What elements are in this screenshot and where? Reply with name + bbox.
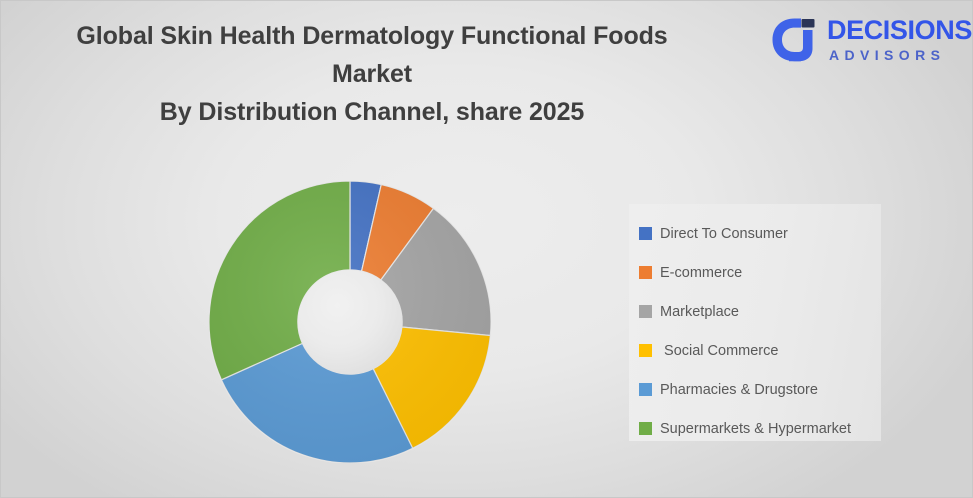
brand-wordmark: DECISIONS ADVISORS xyxy=(827,15,963,65)
title-line-3: By Distribution Channel, share 2025 xyxy=(19,93,725,131)
legend-swatch-marketplace xyxy=(639,305,652,318)
legend-item[interactable]: Supermarkets & Hypermarket xyxy=(635,409,875,448)
donut-chart xyxy=(209,181,491,463)
donut-slices xyxy=(209,181,491,463)
legend-label: Marketplace xyxy=(660,303,739,321)
legend-item[interactable]: Direct To Consumer xyxy=(635,214,875,253)
title-line-1: Global Skin Health Dermatology Functiona… xyxy=(19,17,725,55)
legend-swatch-direct-to-consumer xyxy=(639,227,652,240)
title-line-2: Market xyxy=(19,55,725,93)
legend-label: Direct To Consumer xyxy=(660,225,788,243)
legend-item[interactable]: Pharmacies & Drugstore xyxy=(635,370,875,409)
legend-item[interactable]: Marketplace xyxy=(635,292,875,331)
legend-swatch-e-commerce xyxy=(639,266,652,279)
brand-tagline: ADVISORS xyxy=(827,45,963,65)
legend-swatch-pharmacies-drugstore xyxy=(639,383,652,396)
legend-item[interactable]: Social Commerce xyxy=(635,331,875,370)
chart-legend: Direct To Consumer E-commerce Marketplac… xyxy=(629,204,881,441)
legend-label: E-commerce xyxy=(660,264,742,282)
donut-chart-svg xyxy=(209,181,491,463)
page-title: Global Skin Health Dermatology Functiona… xyxy=(19,17,725,131)
chart-card: Global Skin Health Dermatology Functiona… xyxy=(0,0,973,498)
legend-swatch-supermarkets-hypermarket xyxy=(639,422,652,435)
decisions-advisors-logo-icon xyxy=(767,13,823,69)
legend-label: Social Commerce xyxy=(660,342,778,360)
brand-logo: DECISIONS ADVISORS xyxy=(767,11,963,73)
legend-label: Supermarkets & Hypermarket xyxy=(660,420,851,438)
legend-swatch-social-commerce xyxy=(639,344,652,357)
donut-slice[interactable] xyxy=(209,181,350,380)
brand-name: DECISIONS xyxy=(827,15,963,45)
legend-item[interactable]: E-commerce xyxy=(635,253,875,292)
legend-label: Pharmacies & Drugstore xyxy=(660,381,818,399)
